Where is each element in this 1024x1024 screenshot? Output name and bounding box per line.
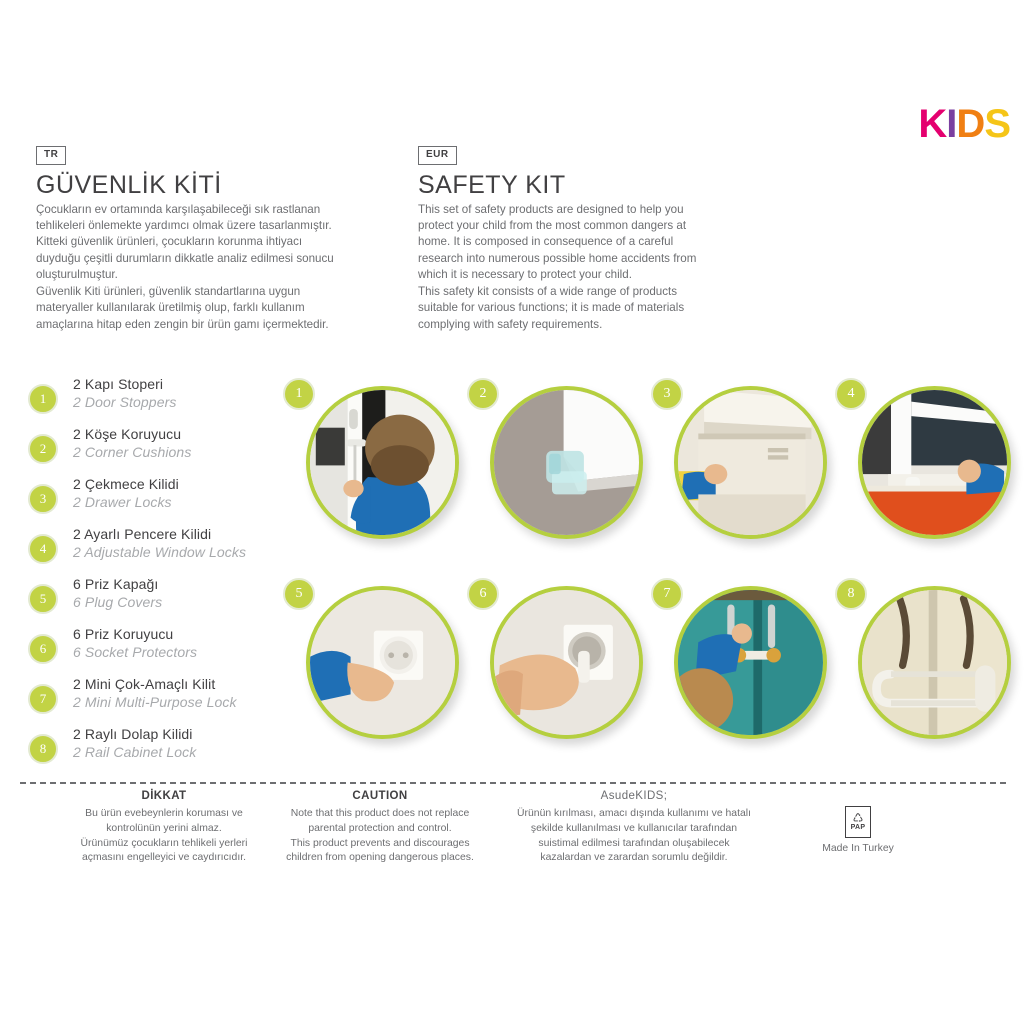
- logo-letter-k: K: [918, 104, 946, 144]
- made-in-text: Made In Turkey: [778, 843, 938, 854]
- photo-badge-1: 1: [283, 378, 315, 410]
- list-item-label-tr: 6 Priz Kapağı: [73, 576, 278, 594]
- list-badge-7: 7: [28, 684, 58, 714]
- list-badge-5: 5: [28, 584, 58, 614]
- photo-badge-6: 6: [467, 578, 499, 610]
- product-list: 12 Kapı Stoperi2 Door Stoppers22 Köşe Ko…: [28, 376, 278, 776]
- list-badge-2: 2: [28, 434, 58, 464]
- list-badge-6: 6: [28, 634, 58, 664]
- product-photo-cell[interactable]: 3: [651, 378, 835, 574]
- liability-body: Ürünün kırılması, amacı dışında kullanım…: [500, 807, 768, 866]
- photo-badge-8: 8: [835, 578, 867, 610]
- multi-purpose-lock-photo: [674, 586, 827, 739]
- warning-en: CAUTION Note that this product does not …: [262, 790, 498, 866]
- list-item-label-en: 2 Rail Cabinet Lock: [73, 744, 278, 762]
- logo-letter-d: D: [956, 104, 984, 144]
- warning-tr-body: Bu ürün evebeynlerin koruması ve kontrol…: [30, 807, 298, 866]
- page-title-tr: GÜVENLİK KİTİ: [36, 172, 406, 200]
- list-item[interactable]: 22 Köşe Koruyucu2 Corner Cushions: [28, 426, 278, 476]
- list-item-label-tr: 2 Ayarlı Pencere Kilidi: [73, 526, 278, 544]
- list-badge-8: 8: [28, 734, 58, 764]
- list-item[interactable]: 12 Kapı Stoperi2 Door Stoppers: [28, 376, 278, 426]
- intro-column-tr: TR GÜVENLİK KİTİ Çocukların ev ortamında…: [36, 144, 406, 333]
- product-photo-cell[interactable]: 7: [651, 578, 835, 774]
- photo-badge-4: 4: [835, 378, 867, 410]
- warning-tr: DİKKAT Bu ürün evebeynlerin koruması ve …: [30, 790, 298, 866]
- drawer-lock-photo: [674, 386, 827, 539]
- warning-tr-title: DİKKAT: [30, 790, 298, 802]
- window-lock-photo: [858, 386, 1011, 539]
- photo-badge-3: 3: [651, 378, 683, 410]
- photo-badge-5: 5: [283, 578, 315, 610]
- recycle-symbol: ♺: [853, 813, 864, 824]
- list-item-label-en: 2 Adjustable Window Locks: [73, 544, 278, 562]
- list-item-label-tr: 2 Çekmece Kilidi: [73, 476, 278, 494]
- photo-badge-7: 7: [651, 578, 683, 610]
- logo-letter-s: S: [984, 104, 1010, 144]
- product-photo-cell[interactable]: 6: [467, 578, 651, 774]
- footer-divider: [20, 782, 1006, 784]
- language-badge-tr: TR: [36, 146, 66, 165]
- list-item-label-tr: 6 Priz Koruyucu: [73, 626, 278, 644]
- list-badge-3: 3: [28, 484, 58, 514]
- product-photo-cell[interactable]: 4: [835, 378, 1019, 574]
- safety-kit-page: KIDS TR GÜVENLİK KİTİ Çocukların ev orta…: [0, 0, 1024, 1024]
- list-item-label-en: 2 Mini Multi-Purpose Lock: [73, 694, 278, 712]
- door-stopper-child-photo: [306, 386, 459, 539]
- kids-logo: KIDS: [918, 104, 1010, 144]
- photo-badge-2: 2: [467, 378, 499, 410]
- warning-en-title: CAUTION: [262, 790, 498, 802]
- list-item-label-en: 2 Corner Cushions: [73, 444, 278, 462]
- language-badge-eur: EUR: [418, 146, 457, 165]
- list-item-label-en: 6 Socket Protectors: [73, 644, 278, 662]
- logo-letter-i: I: [946, 104, 956, 144]
- warning-en-body: Note that this product does not replace …: [262, 807, 498, 866]
- recycle-pap-icon: ♺ PAP: [845, 806, 871, 838]
- list-item-label-tr: 2 Kapı Stoperi: [73, 376, 278, 394]
- list-item-label-en: 2 Drawer Locks: [73, 494, 278, 512]
- intro-body-tr: Çocukların ev ortamında karşılaşabileceğ…: [36, 202, 406, 334]
- page-title-eur: SAFETY KIT: [418, 172, 778, 200]
- socket-protector-photo: [490, 586, 643, 739]
- list-item[interactable]: 72 Mini Çok-Amaçlı Kilit2 Mini Multi-Pur…: [28, 676, 278, 726]
- product-photo-cell[interactable]: 8: [835, 578, 1019, 774]
- list-item[interactable]: 66 Priz Koruyucu6 Socket Protectors: [28, 626, 278, 676]
- liability-title: AsudeKIDS;: [500, 790, 768, 802]
- list-item[interactable]: 56 Priz Kapağı6 Plug Covers: [28, 576, 278, 626]
- list-item-label-en: 6 Plug Covers: [73, 594, 278, 612]
- list-item[interactable]: 82 Raylı Dolap Kilidi2 Rail Cabinet Lock: [28, 726, 278, 776]
- list-badge-1: 1: [28, 384, 58, 414]
- recycle-label: PAP: [851, 824, 866, 832]
- product-photo-cell[interactable]: 2: [467, 378, 651, 574]
- made-in-turkey-block: ♺ PAP Made In Turkey: [778, 806, 938, 854]
- list-item[interactable]: 42 Ayarlı Pencere Kilidi2 Adjustable Win…: [28, 526, 278, 576]
- plug-cover-photo: [306, 586, 459, 739]
- intro-body-eur: This set of safety products are designed…: [418, 202, 778, 334]
- intro-column-eur: EUR SAFETY KIT This set of safety produc…: [418, 144, 778, 333]
- list-item[interactable]: 32 Çekmece Kilidi2 Drawer Locks: [28, 476, 278, 526]
- liability-note: AsudeKIDS; Ürünün kırılması, amacı dışın…: [500, 790, 768, 866]
- list-item-label-tr: 2 Mini Çok-Amaçlı Kilit: [73, 676, 278, 694]
- product-photo-cell[interactable]: 5: [283, 578, 467, 774]
- list-badge-4: 4: [28, 534, 58, 564]
- corner-cushion-photo: [490, 386, 643, 539]
- list-item-label-en: 2 Door Stoppers: [73, 394, 278, 412]
- product-photo-cell[interactable]: 1: [283, 378, 467, 574]
- list-item-label-tr: 2 Raylı Dolap Kilidi: [73, 726, 278, 744]
- rail-cabinet-lock-photo: [858, 586, 1011, 739]
- list-item-label-tr: 2 Köşe Koruyucu: [73, 426, 278, 444]
